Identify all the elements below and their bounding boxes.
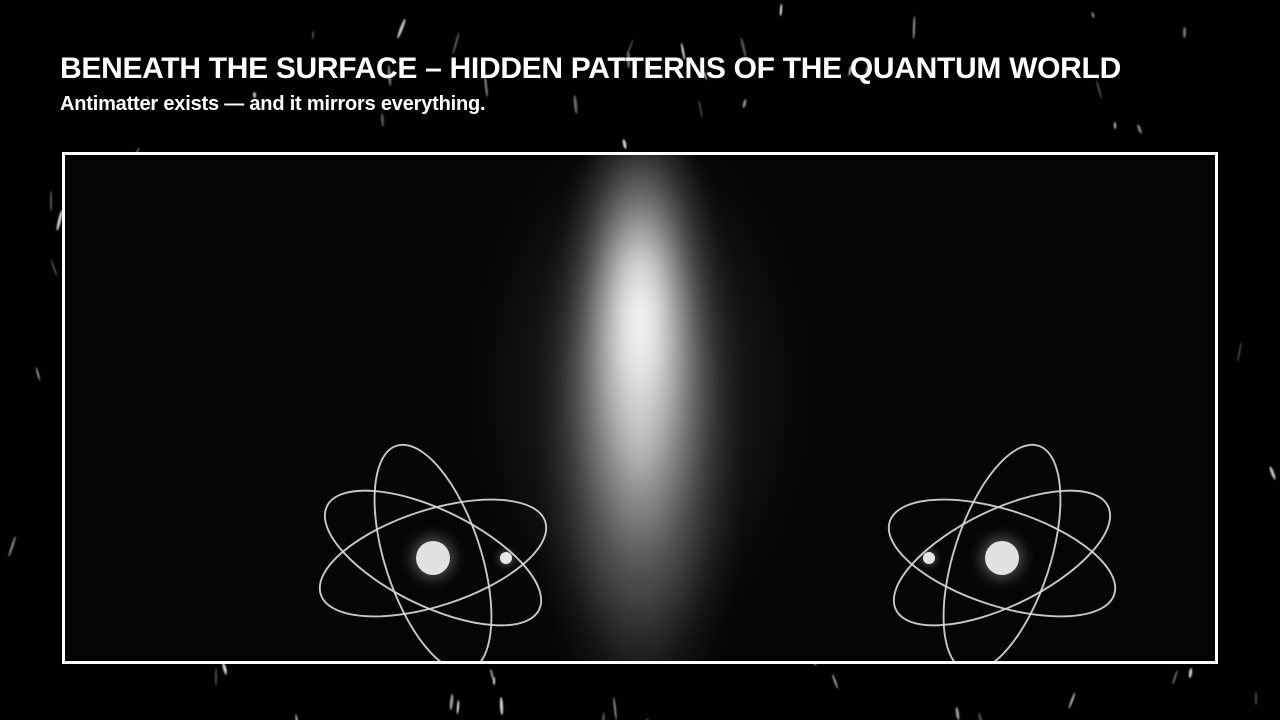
light-beam-divider [545, 155, 735, 661]
diagram-panel: PARTICLE ANTIPARTICLE [62, 152, 1218, 664]
particle-streak [397, 19, 407, 39]
diagram-panel-inner: PARTICLE ANTIPARTICLE [65, 155, 1215, 661]
particle-streak [1172, 670, 1179, 685]
particle-streak [1188, 668, 1192, 679]
particle-streak [1068, 693, 1076, 709]
particle-streak [312, 31, 314, 39]
particle-streak [832, 674, 839, 688]
particle-streak [1136, 123, 1142, 133]
particle-streak [698, 100, 703, 118]
page-subtitle: Antimatter exists — and it mirrors every… [60, 93, 485, 116]
particle-streak [1092, 12, 1096, 18]
particle-streak [622, 139, 627, 149]
particle-streak [1269, 465, 1277, 479]
particle-streak [1237, 342, 1242, 362]
particle-atom-diagram [298, 423, 568, 661]
particle-streak [602, 712, 605, 720]
particle-streak [223, 665, 227, 672]
particle-streak [1114, 122, 1117, 129]
particle-streak [295, 714, 299, 720]
particle-streak [1183, 27, 1186, 38]
particle-streak [742, 99, 747, 109]
particle-streak [1255, 692, 1257, 705]
page-title: BENEATH THE SURFACE – HIDDEN PATTERNS OF… [60, 52, 1121, 86]
particle-streak [500, 697, 504, 715]
particle-streak [457, 699, 460, 713]
particle-streak [977, 712, 985, 720]
particle-streak [574, 95, 579, 114]
particle-streak [215, 668, 217, 686]
particle-streak [50, 259, 58, 276]
antiparticle-electron-icon [923, 552, 935, 564]
slide-root: BENEATH THE SURFACE – HIDDEN PATTERNS OF… [0, 0, 1280, 720]
particle-streak [50, 191, 52, 211]
particle-streak [493, 677, 495, 685]
particle-nucleus-icon [416, 541, 450, 575]
antiparticle-atom-diagram [867, 423, 1137, 661]
particle-streak [490, 669, 494, 680]
particle-streak [35, 367, 41, 381]
particle-electron-icon [500, 552, 512, 564]
particle-streak [780, 4, 782, 16]
particle-streak [613, 697, 618, 720]
particle-streak [912, 16, 915, 39]
antiparticle-nucleus-icon [985, 541, 1019, 575]
particle-streak [449, 693, 453, 709]
particle-streak [8, 537, 16, 558]
particle-streak [955, 706, 960, 720]
